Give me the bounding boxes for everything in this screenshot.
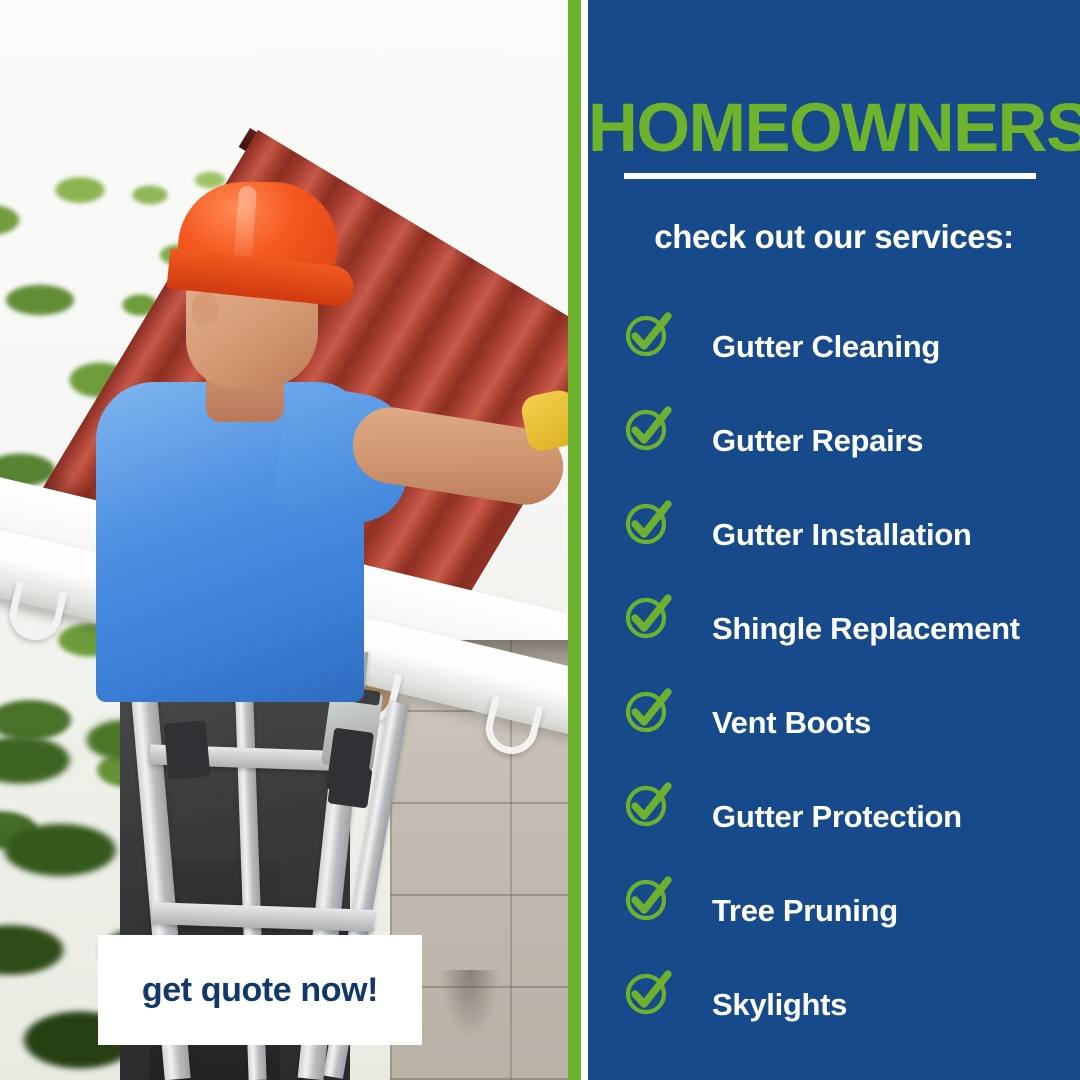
check-circle-icon [624, 592, 672, 640]
worker-ear [192, 292, 218, 326]
hero-photo: get quote now! [0, 0, 568, 1080]
service-label: Gutter Repairs [712, 423, 1080, 459]
panel-subtitle: check out our services: [588, 218, 1080, 256]
services-list: Gutter Cleaning Gutter Repairs Gutter In… [588, 300, 1080, 1052]
service-list-item-2[interactable]: Gutter Installation [588, 488, 1080, 582]
service-label: Gutter Cleaning [712, 329, 1080, 365]
service-label: Shingle Replacement [712, 611, 1080, 647]
check-circle-icon [624, 780, 672, 828]
service-label: Vent Boots [712, 705, 1080, 741]
flyer-canvas: get quote now! HOMEOWNERS check out our … [0, 0, 1080, 1080]
service-list-item-4[interactable]: Vent Boots [588, 676, 1080, 770]
service-list-item-0[interactable]: Gutter Cleaning [588, 300, 1080, 394]
check-circle-icon [624, 310, 672, 358]
service-list-item-6[interactable]: Tree Pruning [588, 864, 1080, 958]
title-underline-rule [624, 173, 1036, 179]
check-circle-icon [624, 404, 672, 452]
wall-stain [440, 970, 500, 1040]
check-circle-icon [624, 874, 672, 922]
ladder-brace [327, 763, 372, 808]
white-divider-gap [581, 0, 588, 1080]
service-list-item-7[interactable]: Skylights [588, 958, 1080, 1052]
service-label: Tree Pruning [712, 893, 1080, 929]
service-label: Gutter Installation [712, 517, 1080, 553]
service-list-item-5[interactable]: Gutter Protection [588, 770, 1080, 864]
ladder-brace [164, 720, 211, 779]
page-title: HOMEOWNERS [588, 93, 1080, 162]
service-label: Gutter Protection [712, 799, 1080, 835]
green-divider-strip [568, 0, 581, 1080]
check-circle-icon [624, 968, 672, 1016]
get-quote-button-label: get quote now! [142, 971, 378, 1010]
service-label: Skylights [712, 987, 1080, 1023]
check-circle-icon [624, 498, 672, 546]
services-panel: HOMEOWNERS check out our services: Gutte… [588, 0, 1080, 1080]
service-list-item-3[interactable]: Shingle Replacement [588, 582, 1080, 676]
service-list-item-1[interactable]: Gutter Repairs [588, 394, 1080, 488]
check-circle-icon [624, 686, 672, 734]
get-quote-button[interactable]: get quote now! [98, 935, 422, 1045]
